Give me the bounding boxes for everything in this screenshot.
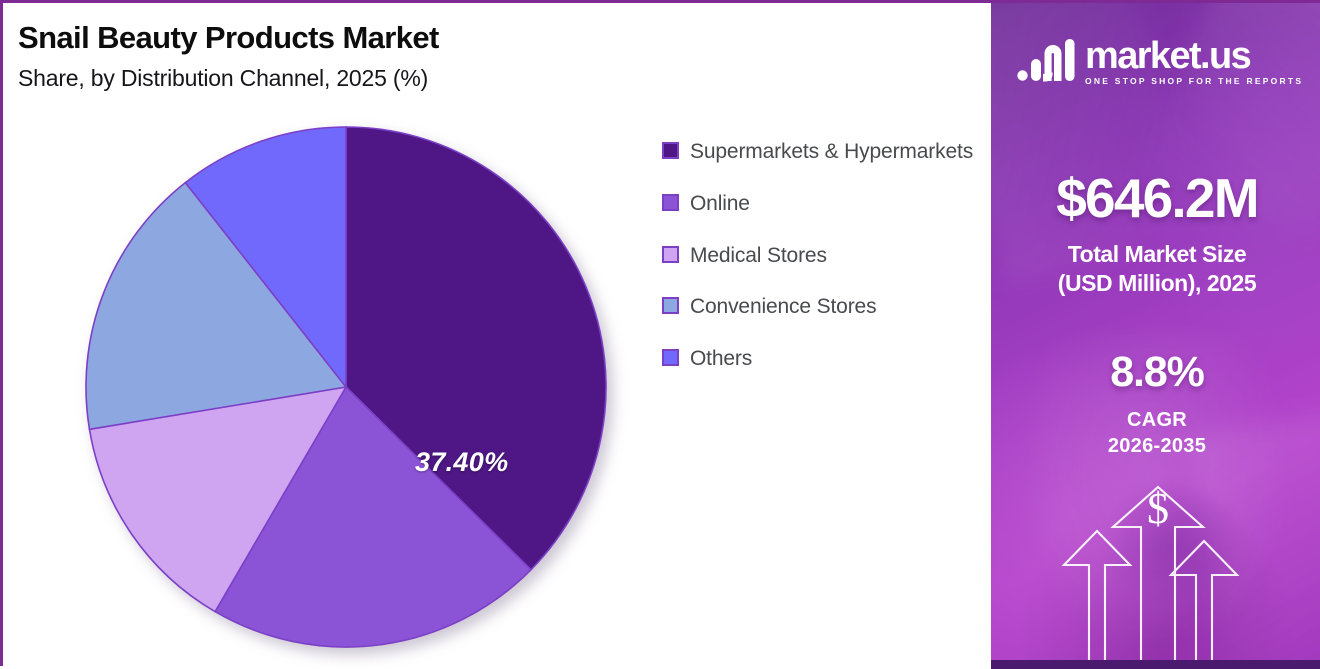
- sidebar-bottom-strip: [991, 660, 1320, 669]
- logo-wordmark: market.us: [1085, 37, 1303, 75]
- market-size-caption: Total Market Size (USD Million), 2025: [991, 240, 1320, 299]
- market-size-caption-line1: Total Market Size: [991, 240, 1320, 269]
- legend-item-3[interactable]: Convenience Stores: [662, 292, 977, 322]
- page-subtitle: Share, by Distribution Channel, 2025 (%): [18, 65, 718, 91]
- chart-legend: Supermarkets & HypermarketsOnlineMedical…: [662, 137, 977, 396]
- infographic-root: Snail Beauty Products Market Share, by D…: [0, 0, 1320, 666]
- legend-item-label: Convenience Stores: [690, 292, 876, 322]
- legend-item-label: Others: [690, 344, 752, 374]
- chart-panel: Snail Beauty Products Market Share, by D…: [3, 3, 991, 669]
- cagr-value: 8.8%: [991, 351, 1320, 394]
- cagr-caption: CAGR 2026-2035: [991, 407, 1320, 459]
- legend-swatch-icon: [662, 142, 679, 159]
- legend-item-1[interactable]: Online: [662, 189, 977, 219]
- page-title: Snail Beauty Products Market: [18, 21, 718, 56]
- market-size-value: $646.2M: [991, 171, 1320, 226]
- market-size-stat: $646.2M Total Market Size (USD Million),…: [991, 171, 1320, 299]
- legend-swatch-icon: [662, 246, 679, 263]
- legend-swatch-icon: [662, 349, 679, 366]
- market-us-logo: market.us ONE STOP SHOP FOR THE REPORTS: [1017, 31, 1297, 91]
- legend-item-label: Medical Stores: [690, 241, 827, 271]
- legend-item-label: Supermarkets & Hypermarkets: [690, 137, 973, 167]
- cagr-stat: 8.8% CAGR 2026-2035: [991, 351, 1320, 459]
- dollar-symbol: $: [1147, 484, 1169, 533]
- growth-arrows-icon: $: [991, 479, 1320, 669]
- cagr-caption-line1: CAGR: [991, 407, 1320, 433]
- logo-text: market.us ONE STOP SHOP FOR THE REPORTS: [1085, 37, 1303, 86]
- pie-chart: 37.40%: [85, 125, 613, 653]
- legend-item-4[interactable]: Others: [662, 344, 977, 374]
- pie-slices-svg: [85, 125, 613, 653]
- legend-swatch-icon: [662, 297, 679, 314]
- pie-slice-value-label: 37.40%: [415, 447, 508, 478]
- market-size-caption-line2: (USD Million), 2025: [991, 269, 1320, 298]
- legend-item-0[interactable]: Supermarkets & Hypermarkets: [662, 137, 977, 167]
- cagr-caption-line2: 2026-2035: [991, 433, 1320, 459]
- market-us-bars-icon: [1017, 39, 1075, 83]
- legend-item-2[interactable]: Medical Stores: [662, 241, 977, 271]
- logo-tagline: ONE STOP SHOP FOR THE REPORTS: [1085, 77, 1303, 86]
- legend-item-label: Online: [690, 189, 750, 219]
- title-block: Snail Beauty Products Market Share, by D…: [18, 21, 718, 91]
- legend-swatch-icon: [662, 194, 679, 211]
- stats-sidebar: market.us ONE STOP SHOP FOR THE REPORTS …: [991, 3, 1320, 669]
